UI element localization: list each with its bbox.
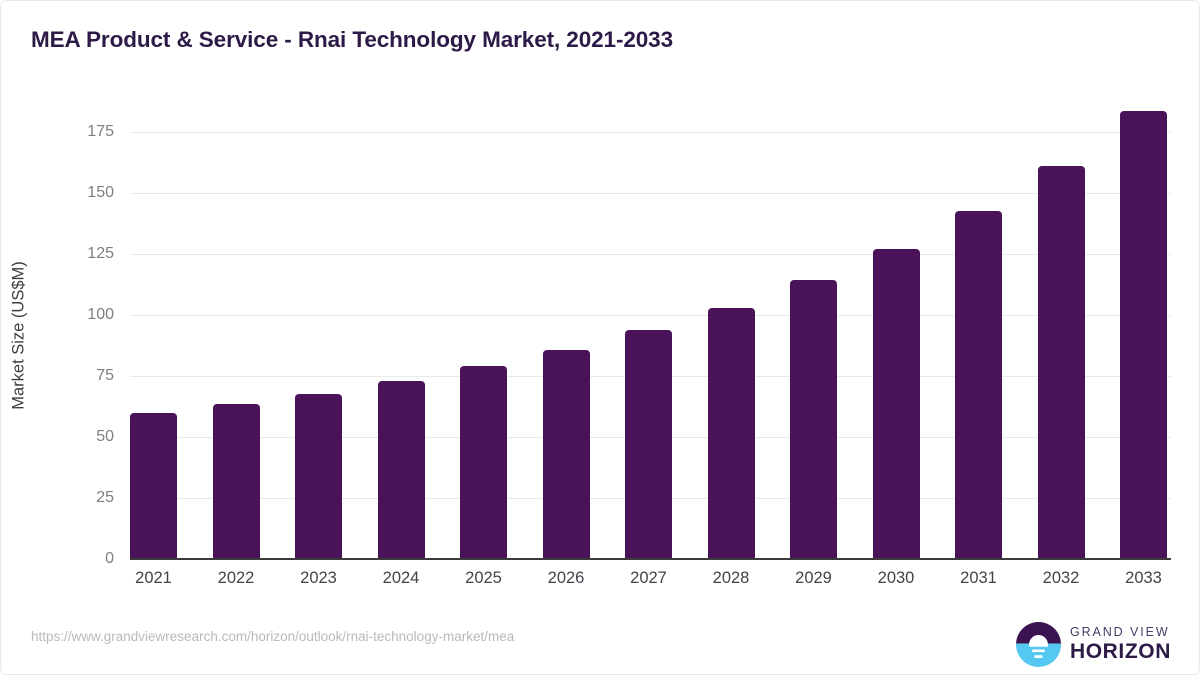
x-axis-tick-label-2024: 2024: [356, 569, 446, 588]
x-axis-tick-label-2029: 2029: [769, 569, 859, 588]
x-axis-tick-label-2033: 2033: [1099, 569, 1189, 588]
horizon-sunrise-circle-icon: [1016, 622, 1061, 667]
bar-2027[interactable]: [625, 330, 672, 559]
y-axis-tick-label: 150: [68, 184, 114, 202]
y-axis-tick-label: 50: [68, 428, 114, 446]
plot-area: [130, 132, 1171, 559]
bar-2026[interactable]: [543, 350, 590, 559]
y-axis-tick-labels: 0255075100125150175: [58, 1, 114, 675]
y-axis-tick-label: 25: [68, 489, 114, 507]
bar-2025[interactable]: [460, 366, 507, 559]
brand-wordmark: GRAND VIEW HORIZON: [1070, 626, 1171, 663]
bar-2031[interactable]: [955, 211, 1002, 559]
bar-2022[interactable]: [213, 404, 260, 559]
chart-card: MEA Product & Service - Rnai Technology …: [0, 0, 1200, 675]
y-axis-tick-label: 0: [68, 550, 114, 568]
x-axis-tick-label-2028: 2028: [686, 569, 776, 588]
brand-line-1: GRAND VIEW: [1070, 626, 1171, 639]
y-axis-tick-label: 75: [68, 367, 114, 385]
bar-2030[interactable]: [873, 249, 920, 559]
gridline: [130, 132, 1171, 133]
gridline: [130, 254, 1171, 255]
bar-2028[interactable]: [708, 308, 755, 559]
gridline: [130, 193, 1171, 194]
bar-2029[interactable]: [790, 280, 837, 559]
bar-2033[interactable]: [1120, 111, 1167, 559]
y-axis-tick-label: 100: [68, 306, 114, 324]
bar-2021[interactable]: [130, 413, 177, 559]
source-url[interactable]: https://www.grandviewresearch.com/horizo…: [31, 629, 514, 644]
brand-logo[interactable]: GRAND VIEW HORIZON: [1016, 621, 1171, 667]
bar-2023[interactable]: [295, 394, 342, 559]
page-title: MEA Product & Service - Rnai Technology …: [31, 27, 673, 53]
x-axis-tick-label-2031: 2031: [934, 569, 1024, 588]
y-axis-tick-label: 175: [68, 123, 114, 141]
y-axis-title: Market Size (US$M): [10, 156, 29, 516]
x-axis-tick-label-2022: 2022: [191, 569, 281, 588]
x-axis-line: [130, 558, 1171, 560]
x-axis-tick-label-2030: 2030: [851, 569, 941, 588]
x-axis-tick-label-2032: 2032: [1016, 569, 1106, 588]
gridline: [130, 315, 1171, 316]
x-axis-tick-label-2025: 2025: [439, 569, 529, 588]
y-axis-tick-label: 125: [68, 245, 114, 263]
bar-2032[interactable]: [1038, 166, 1085, 559]
x-axis-tick-label-2027: 2027: [604, 569, 694, 588]
x-axis-tick-label-2021: 2021: [109, 569, 199, 588]
x-axis-tick-label-2026: 2026: [521, 569, 611, 588]
brand-line-2: HORIZON: [1070, 641, 1171, 662]
bar-2024[interactable]: [378, 381, 425, 559]
x-axis-tick-label-2023: 2023: [274, 569, 364, 588]
